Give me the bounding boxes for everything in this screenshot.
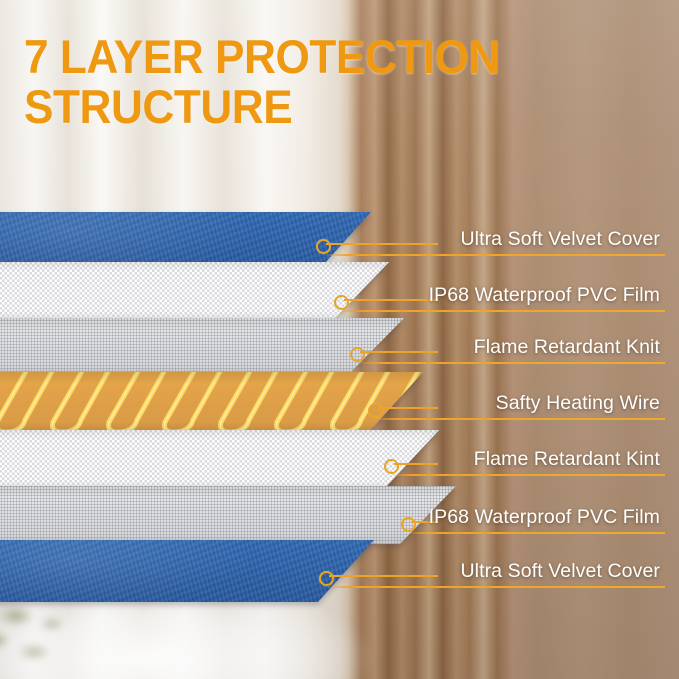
layer-label-4: Safty Heating Wire — [496, 392, 660, 415]
layer-label-7: Ultra Soft Velvet Cover — [460, 560, 660, 583]
infographic-canvas: 7 LAYER PROTECTION STRUCTURE Ultra Soft … — [0, 0, 679, 679]
layer-slab-6 — [0, 486, 456, 544]
layer-slab-4 — [0, 372, 423, 434]
layer-label-rule-7 — [325, 586, 665, 588]
layer-label-6: IP68 Waterproof PVC Film — [429, 506, 660, 529]
layer-label-rule-1 — [322, 254, 665, 256]
layer-label-rule-3 — [356, 362, 665, 364]
layer-label-rule-4 — [374, 418, 665, 420]
layer-surface-heating-wire — [0, 372, 423, 434]
layer-label-3: Flame Retardant Knit — [474, 336, 660, 359]
layer-label-1: Ultra Soft Velvet Cover — [460, 228, 660, 251]
layer-surface-knit — [0, 486, 456, 544]
layer-stack: Ultra Soft Velvet CoverIP68 Waterproof P… — [0, 0, 679, 679]
layer-slab-7 — [0, 540, 374, 602]
layer-slab-5 — [0, 430, 439, 490]
layer-label-rule-2 — [340, 310, 665, 312]
layer-surface-knit — [0, 318, 404, 375]
layer-surface-velvet — [0, 540, 374, 602]
layer-surface-pvc-film — [0, 430, 439, 490]
layer-label-5: Flame Retardant Kint — [474, 448, 660, 471]
layer-slab-3 — [0, 318, 404, 375]
layer-label-rule-5 — [390, 474, 665, 476]
layer-label-rule-6 — [407, 532, 665, 534]
heating-wire-path — [0, 372, 423, 434]
layer-label-2: IP68 Waterproof PVC Film — [429, 284, 660, 307]
layer-slab-2 — [0, 262, 389, 320]
layer-surface-pvc-film — [0, 262, 389, 320]
